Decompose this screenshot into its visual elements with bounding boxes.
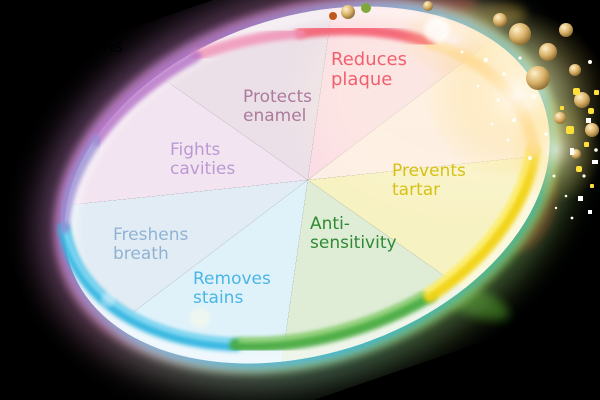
- label-reduces-plaque: Reduces plaque: [331, 50, 407, 90]
- pie-wheel-figure: Reduces plaque Helps prevent gum problem…: [0, 0, 600, 400]
- label-prevents-tartar: Prevents tartar: [392, 162, 466, 200]
- wheel-svg: [0, 0, 600, 400]
- label-removes-stains: Removes stains: [193, 270, 271, 308]
- label-fights-cavities: Fights cavities: [170, 141, 235, 179]
- label-helps-prevent-gum-problems: Helps prevent gum problems: [0, 0, 123, 57]
- label-freshens-breath: Freshens breath: [113, 226, 188, 264]
- label-anti-sensitivity: Anti- sensitivity: [310, 215, 397, 253]
- label-protects-enamel: Protects enamel: [243, 88, 312, 126]
